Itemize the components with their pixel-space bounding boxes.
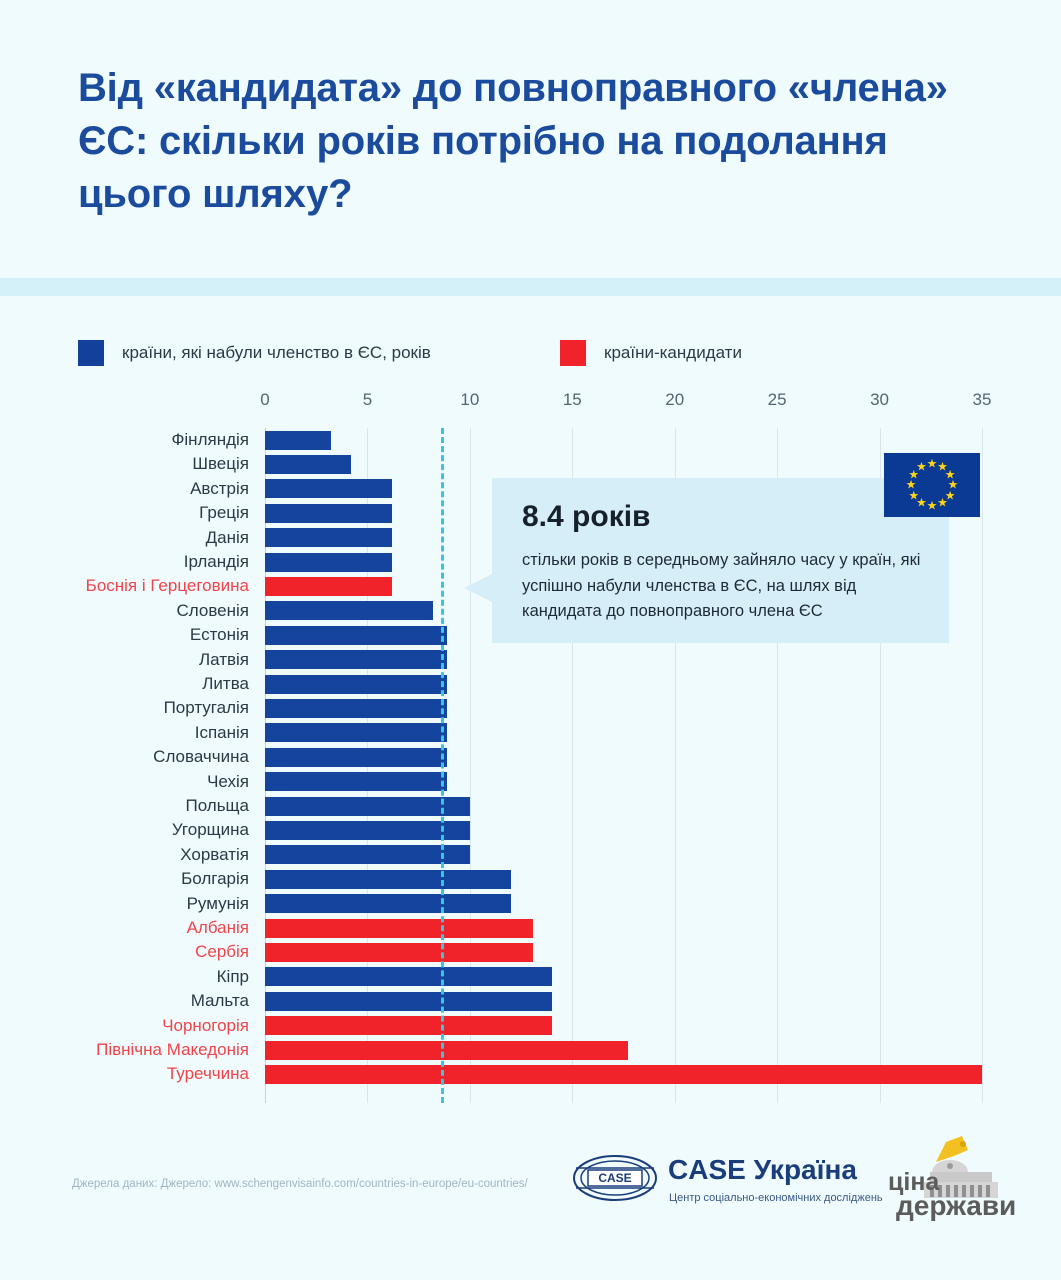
bar-label-Словаччина: Словаччина [5, 745, 265, 769]
bar-label-Албанія: Албанія [5, 916, 265, 940]
bar-Швеція [265, 455, 351, 474]
x-axis-tick-25: 25 [768, 390, 787, 410]
bar-row: Фінляндія [265, 428, 982, 452]
bar-label-Хорватія: Хорватія [5, 843, 265, 867]
bar-label-Греція: Греція [5, 501, 265, 525]
bar-row: Румунія [265, 892, 982, 916]
bar-label-Литва: Литва [5, 672, 265, 696]
legend-swatch-candidate-icon [560, 340, 586, 366]
bar-label-Боснія і Герцеговина: Боснія і Герцеговина [5, 574, 265, 598]
eu-star-icon: ★ [927, 459, 938, 470]
bar-label-Болгарія: Болгарія [5, 867, 265, 891]
bar-Іспанія [265, 723, 447, 742]
x-axis-tick-15: 15 [563, 390, 582, 410]
callout-description: стільки років в середньому зайняло часу … [522, 548, 932, 625]
bar-row: Чорногорія [265, 1014, 982, 1038]
bar-label-Польща: Польща [5, 794, 265, 818]
legend-label-member: країни, які набули членство в ЄС, років [122, 343, 431, 363]
x-axis-tick-35: 35 [973, 390, 992, 410]
bar-label-Кіпр: Кіпр [5, 965, 265, 989]
bar-Албанія [265, 919, 533, 938]
bar-Польща [265, 797, 470, 816]
bar-label-Сербія: Сербія [5, 940, 265, 964]
case-logo-subtitle: Центр соціально-економічних досліджень [669, 1192, 883, 1204]
data-source-text: Джерела даних: Джерело: www.schengenvisa… [72, 1178, 528, 1190]
legend-item-member: країни, які набули членство в ЄС, років [78, 340, 431, 366]
bar-row: Мальта [265, 989, 982, 1013]
average-line [441, 428, 444, 1103]
bar-Угорщина [265, 821, 470, 840]
gridline-35 [982, 428, 983, 1103]
bar-label-Фінляндія: Фінляндія [5, 428, 265, 452]
x-axis-tick-30: 30 [870, 390, 889, 410]
bar-row: Албанія [265, 916, 982, 940]
bar-label-Іспанія: Іспанія [5, 721, 265, 745]
eu-star-icon: ★ [927, 501, 938, 512]
bar-Австрія [265, 479, 392, 498]
bar-Мальта [265, 992, 552, 1011]
bar-Португалія [265, 699, 447, 718]
bar-row: Чехія [265, 770, 982, 794]
callout-pointer-icon [464, 574, 492, 602]
price-of-state-logo: ціна держави [884, 1128, 1004, 1228]
bar-row: Кіпр [265, 965, 982, 989]
bar-Словаччина [265, 748, 447, 767]
bar-label-Угорщина: Угорщина [5, 818, 265, 842]
bar-label-Словенія: Словенія [5, 599, 265, 623]
legend-item-candidate: країни-кандидати [560, 340, 742, 366]
case-emblem-icon: CASE [572, 1154, 658, 1202]
bar-label-Швеція: Швеція [5, 452, 265, 476]
bar-row: Північна Македонія [265, 1038, 982, 1062]
case-ukraine-logo: CASE CASE Україна Центр соціально-економ… [572, 1142, 852, 1218]
bar-Литва [265, 675, 447, 694]
bar-row: Польща [265, 794, 982, 818]
bar-label-Австрія: Австрія [5, 477, 265, 501]
bar-row: Сербія [265, 940, 982, 964]
bar-Боснія і Герцеговина [265, 577, 392, 596]
bar-label-Латвія: Латвія [5, 648, 265, 672]
bar-label-Естонія: Естонія [5, 623, 265, 647]
bar-row: Словаччина [265, 745, 982, 769]
bar-label-Чорногорія: Чорногорія [5, 1014, 265, 1038]
bar-label-Данія: Данія [5, 526, 265, 550]
bar-Північна Македонія [265, 1041, 628, 1060]
bar-label-Румунія: Румунія [5, 892, 265, 916]
x-axis-tick-5: 5 [363, 390, 372, 410]
bar-Естонія [265, 626, 447, 645]
bar-row: Угорщина [265, 818, 982, 842]
eu-star-icon: ★ [906, 480, 917, 491]
case-logo-title: CASE Україна [668, 1154, 857, 1186]
bar-Туреччина [265, 1065, 982, 1084]
bar-label-Ірландія: Ірландія [5, 550, 265, 574]
average-callout: 8.4 років стільки років в середньому зай… [492, 478, 949, 643]
legend-label-candidate: країни-кандидати [604, 343, 742, 363]
bar-Словенія [265, 601, 433, 620]
x-axis-tick-10: 10 [460, 390, 479, 410]
eu-star-icon: ★ [937, 498, 948, 509]
bar-row: Португалія [265, 696, 982, 720]
bar-row: Хорватія [265, 843, 982, 867]
footer: Джерела даних: Джерело: www.schengenvisa… [0, 1120, 1061, 1280]
bar-Болгарія [265, 870, 511, 889]
bar-Хорватія [265, 845, 470, 864]
legend-swatch-member-icon [78, 340, 104, 366]
eu-flag-icon: ★★★★★★★★★★★★ [884, 453, 980, 517]
header: Від «кандидата» до повноправного «члена»… [0, 0, 1061, 278]
header-divider-band [0, 278, 1061, 296]
bar-label-Чехія: Чехія [5, 770, 265, 794]
bar-row: Іспанія [265, 721, 982, 745]
callout-value: 8.4 років [522, 500, 650, 534]
bar-Греція [265, 504, 392, 523]
price-logo-word-2: держави [896, 1190, 1016, 1222]
bar-row: Латвія [265, 648, 982, 672]
bar-row: Туреччина [265, 1062, 982, 1086]
x-axis-tick-20: 20 [665, 390, 684, 410]
bar-row: Литва [265, 672, 982, 696]
svg-text:CASE: CASE [598, 1171, 631, 1185]
bar-Румунія [265, 894, 511, 913]
bar-Данія [265, 528, 392, 547]
bar-Чорногорія [265, 1016, 552, 1035]
bar-label-Мальта: Мальта [5, 989, 265, 1013]
page-title: Від «кандидата» до повноправного «члена»… [78, 62, 978, 222]
bar-Чехія [265, 772, 447, 791]
bar-row: Болгарія [265, 867, 982, 891]
bar-label-Туреччина: Туреччина [5, 1062, 265, 1086]
bar-Латвія [265, 650, 447, 669]
bar-label-Північна Македонія: Північна Македонія [5, 1038, 265, 1062]
bar-Сербія [265, 943, 533, 962]
bar-Ірландія [265, 553, 392, 572]
bar-label-Португалія: Португалія [5, 696, 265, 720]
eu-star-icon: ★ [908, 490, 919, 501]
x-axis-tick-0: 0 [260, 390, 269, 410]
bar-Кіпр [265, 967, 552, 986]
bar-row: Швеція [265, 452, 982, 476]
x-axis-tick-labels: 05101520253035 [0, 390, 1061, 418]
bar-Фінляндія [265, 431, 331, 450]
eu-star-icon: ★ [916, 461, 927, 472]
